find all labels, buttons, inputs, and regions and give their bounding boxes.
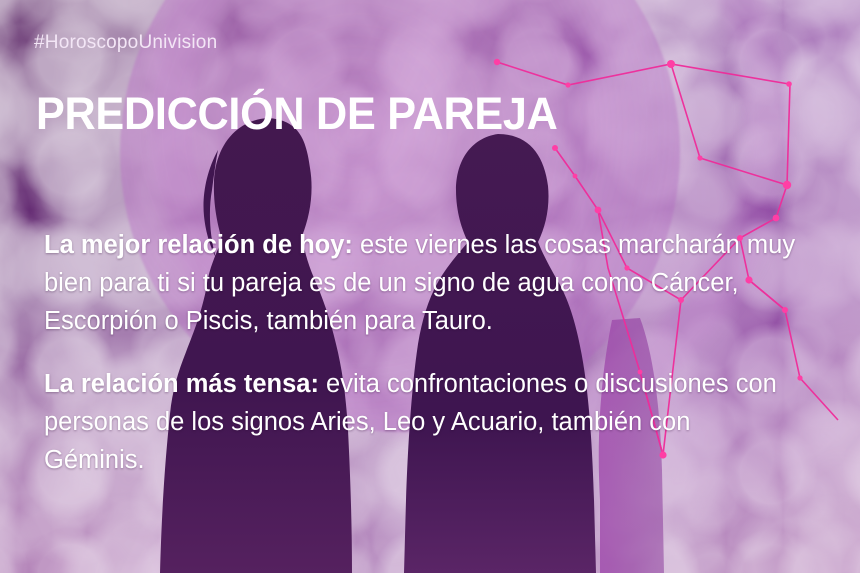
paragraph-tense-match: La relación más tensa: evita confrontaci… <box>44 365 796 479</box>
hashtag: #HoroscopoUnivision <box>34 32 217 54</box>
page-title: PREDICCIÓN DE PAREJA <box>36 90 558 138</box>
paragraph-lead-tense-match: La relación más tensa: <box>44 370 319 398</box>
paragraph-lead-best-match: La mejor relación de hoy: <box>44 231 353 259</box>
paragraph-best-match: La mejor relación de hoy: este viernes l… <box>44 226 796 340</box>
horoscope-card: #HoroscopoUnivision PREDICCIÓN DE PAREJA… <box>0 0 860 573</box>
body-copy: La mejor relación de hoy: este viernes l… <box>44 200 796 505</box>
